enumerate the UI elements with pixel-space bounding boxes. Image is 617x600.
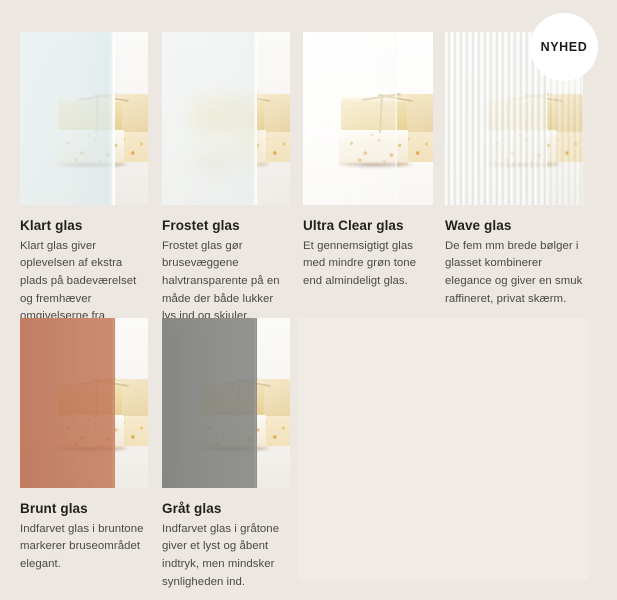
product-card-graat-glas[interactable]: Gråt glas Indfarvet glas i gråtone giver… bbox=[162, 318, 290, 591]
glass-pane-frosted bbox=[162, 32, 257, 205]
glass-pane-clear bbox=[20, 32, 115, 205]
product-card-frostet-glas[interactable]: Frostet glas Frostet glas gør brusevægge… bbox=[162, 32, 290, 326]
nyhed-badge: NYHED bbox=[530, 13, 598, 81]
product-image-brunt-glas bbox=[20, 318, 148, 488]
product-description: Indfarvet glas i bruntone markerer bruse… bbox=[20, 521, 148, 574]
product-title: Wave glas bbox=[445, 218, 583, 234]
product-title: Klart glas bbox=[20, 218, 148, 234]
product-image-graat-glas bbox=[162, 318, 290, 488]
product-title: Brunt glas bbox=[20, 501, 148, 517]
product-card-brunt-glas[interactable]: Brunt glas Indfarvet glas i bruntone mar… bbox=[20, 318, 148, 574]
product-title: Ultra Clear glas bbox=[303, 218, 433, 234]
product-title: Frostet glas bbox=[162, 218, 290, 234]
product-image-frostet-glas bbox=[162, 32, 290, 205]
product-card-klart-glas[interactable]: Klart glas Klart glas giver oplevelsen a… bbox=[20, 32, 148, 344]
product-title: Gråt glas bbox=[162, 501, 290, 517]
product-description: Indfarvet glas i gråtone giver et lyst o… bbox=[162, 521, 290, 592]
glass-pane-ultra-clear bbox=[303, 32, 397, 205]
product-card-ultra-clear-glas[interactable]: Ultra Clear glas Et gennemsigtigt glas m… bbox=[303, 32, 433, 291]
product-description: Et gennemsigtigt glas med mindre grøn to… bbox=[303, 238, 433, 291]
glass-pane-brown bbox=[20, 318, 115, 488]
product-image-ultra-clear-glas bbox=[303, 32, 433, 205]
glass-pane-grey bbox=[162, 318, 257, 488]
product-description: Frostet glas gør brusevæggene halvtransp… bbox=[162, 238, 290, 326]
product-description: De fem mm brede bølger i glasset kombine… bbox=[445, 238, 583, 309]
glass-options-grid: Klart glas Klart glas giver oplevelsen a… bbox=[0, 0, 617, 600]
nyhed-badge-label: NYHED bbox=[541, 40, 588, 54]
product-image-klart-glas bbox=[20, 32, 148, 205]
